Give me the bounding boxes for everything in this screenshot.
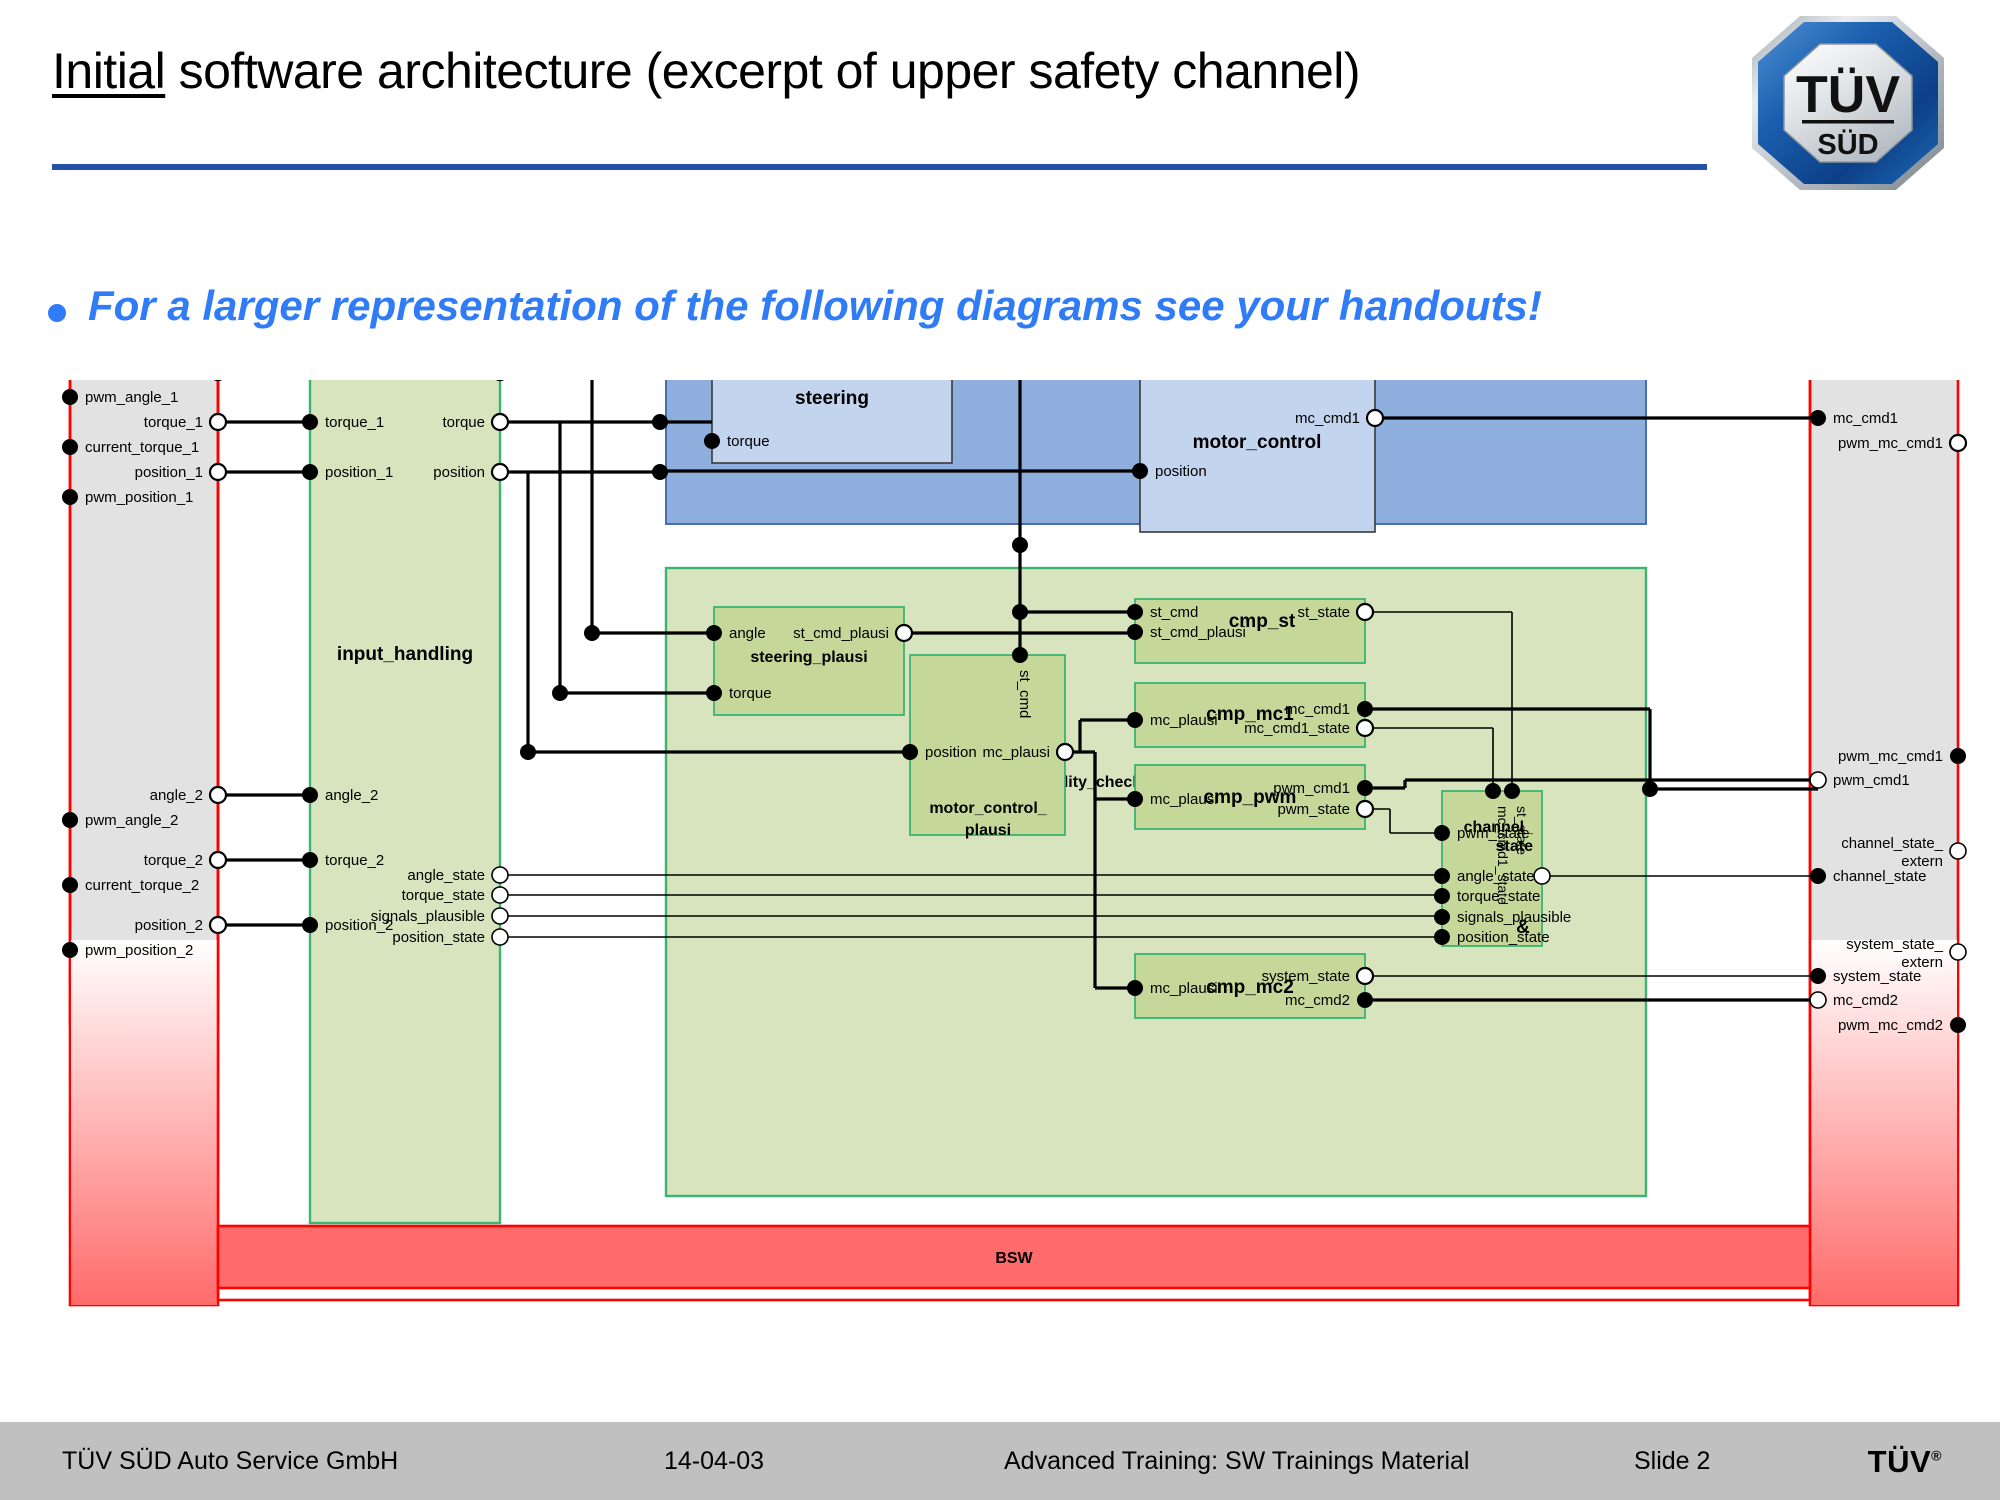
- port-right-systemstate-extern-out[interactable]: [1950, 944, 1966, 960]
- port-out-torque-1[interactable]: [210, 414, 226, 430]
- port-label-cmpmc1-mcplausi: mc_plausi: [1150, 712, 1218, 729]
- port-label-ih-angle-1: angle_1: [325, 380, 378, 381]
- block-mcp-label-line1: motor_control_: [929, 800, 1047, 817]
- port-ih-position-2-in[interactable]: [302, 917, 318, 933]
- port-label-ih-signalsplausible: signals_plausible: [371, 908, 485, 925]
- port-label-current-torque-2: current_torque_2: [85, 877, 199, 894]
- port-current-torque-1[interactable]: [62, 439, 78, 455]
- port-label-pwm-angle-2: pwm_angle_2: [85, 812, 178, 829]
- port-label-ih-positionstate: position_state: [392, 929, 485, 946]
- port-cmppwm-pwmstate-out[interactable]: [1357, 801, 1373, 817]
- port-label-steering-torque: torque: [727, 433, 770, 450]
- block-cmp-st[interactable]: cmp_st st_cmd st_cmd_plausi st_state: [1127, 599, 1373, 663]
- port-right-channelstate-extern-out[interactable]: [1950, 843, 1966, 859]
- logo-sud-text: SÜD: [1817, 128, 1878, 161]
- port-right-pwmcmd1-in[interactable]: [1810, 772, 1826, 788]
- port-mc-mccmd1-out[interactable]: [1367, 410, 1383, 426]
- port-cmpmc1-mccmd1-out[interactable]: [1357, 701, 1373, 717]
- block-motor-control[interactable]: motor_control st_cmd position mc_cmd1: [1132, 380, 1383, 532]
- port-out-position-2[interactable]: [210, 917, 226, 933]
- port-label-ih-angle: angle: [448, 380, 485, 381]
- block-cmp-mc2[interactable]: cmp_mc2 mc_plausi system_state mc_cmd2: [1127, 954, 1373, 1018]
- port-pwm-angle-2[interactable]: [62, 812, 78, 828]
- port-current-torque-2[interactable]: [62, 877, 78, 893]
- port-right-channelstate-in[interactable]: [1810, 868, 1826, 884]
- port-label-out-position-1: position_1: [135, 464, 203, 481]
- port-label-pwm-position-2: pwm_position_2: [85, 942, 193, 959]
- port-label-sp-stcmdplausi: st_cmd_plausi: [793, 625, 889, 642]
- port-label-mc-mccmd1: mc_cmd1: [1295, 410, 1360, 427]
- block-steering-plausi[interactable]: steering_plausi angle torque st_cmd_plau…: [706, 607, 912, 715]
- port-label-ih-angle-2: angle_2: [325, 787, 378, 804]
- block-motor-control-label: motor_control: [1193, 432, 1322, 453]
- port-cs-torquestate-in[interactable]: [1434, 888, 1450, 904]
- port-ih-position-1-in[interactable]: [302, 464, 318, 480]
- port-label-mcp-mcplausi: mc_plausi: [982, 744, 1050, 761]
- port-label-cs-signalsplausible: signals_plausible: [1457, 909, 1571, 926]
- port-ih-anglestate-out[interactable]: [492, 867, 508, 883]
- page-title: Initial software architecture (excerpt o…: [52, 42, 1360, 100]
- port-label-right-pwmmccmd1-upper: pwm_mc_cmd1: [1838, 435, 1943, 452]
- logo-tuv-text: TÜV: [1796, 66, 1900, 124]
- port-label-ih-torquestate: torque_state: [402, 887, 485, 904]
- port-cmpst-ststate-out[interactable]: [1357, 604, 1373, 620]
- port-label-sp-torque: torque: [729, 685, 772, 702]
- port-cmpmc2-systemstate-out[interactable]: [1357, 968, 1373, 984]
- port-right-pwmmccmd2-out[interactable]: [1950, 1017, 1966, 1033]
- port-label-mcp-stcmd: st_cmd: [1016, 670, 1033, 718]
- block-steering-plausi-label: steering_plausi: [750, 649, 867, 666]
- port-label-ih-anglestate: angle_state: [407, 867, 485, 884]
- port-label-ih-torque-2: torque_2: [325, 852, 384, 869]
- bsw-bar: BSW: [218, 1226, 1810, 1288]
- port-cmppwm-pwmcmd1-out[interactable]: [1357, 780, 1373, 796]
- port-label-cmpst-ststate: st_state: [1297, 604, 1350, 621]
- port-label-mcp-position: position: [925, 744, 977, 761]
- port-ih-torque-1-in[interactable]: [302, 414, 318, 430]
- port-label-cmpmc2-mcplausi: mc_plausi: [1150, 980, 1218, 997]
- port-label-out-torque-2: torque_2: [144, 852, 203, 869]
- port-label-cmpst-stcmd: st_cmd: [1150, 604, 1198, 621]
- port-cs-channelstate-out[interactable]: [1534, 868, 1550, 884]
- port-label-right-mccmd1: mc_cmd1: [1833, 410, 1898, 427]
- port-pwm-position-2[interactable]: [62, 942, 78, 958]
- handout-note-text: For a larger representation of the follo…: [88, 282, 1542, 330]
- bsw-label: BSW: [995, 1250, 1033, 1267]
- page-title-rest: software architecture (excerpt of upper …: [165, 43, 1360, 99]
- block-cmp-mc1[interactable]: cmp_mc1 mc_plausi mc_cmd1 mc_cmd1_state: [1127, 683, 1373, 747]
- port-label-right-channelstate-extern-1: channel_state_: [1841, 835, 1943, 852]
- port-pwm-angle-1[interactable]: [62, 389, 78, 405]
- block-cmp-pwm[interactable]: cmp_pwm mc_plausi pwm_cmd1 pwm_state: [1127, 765, 1373, 829]
- block-steering[interactable]: steering angle torque st_cmd: [704, 380, 960, 463]
- port-steering-torque-in[interactable]: [704, 433, 720, 449]
- port-label-cmpst-stcmdplausi: st_cmd_plausi: [1150, 624, 1246, 641]
- port-label-ih-torque: torque: [442, 414, 485, 431]
- port-cs-anglestate-in[interactable]: [1434, 868, 1450, 884]
- port-label-out-position-2: position_2: [135, 917, 203, 934]
- port-right-mccmd1-in[interactable]: [1810, 410, 1826, 426]
- port-label-pwm-position-1: pwm_position_1: [85, 489, 193, 506]
- port-label-right-channelstate: channel_state: [1833, 868, 1926, 885]
- port-label-sp-angle: angle: [729, 625, 766, 642]
- port-ih-torquestate-out[interactable]: [492, 887, 508, 903]
- architecture-diagram: .pl { font-family:"Liberation Sans",sans…: [0, 380, 2000, 1400]
- port-label-cs-pwmstate: pwm_state: [1457, 825, 1530, 842]
- footer-registered-icon: ®: [1931, 1448, 1942, 1464]
- block-mcp-label-line2: plausi: [965, 822, 1011, 839]
- bullet-dot-icon: [48, 304, 66, 322]
- port-label-right-mccmd2: mc_cmd2: [1833, 992, 1898, 1009]
- port-sp-stcmdplausi-out[interactable]: [896, 625, 912, 641]
- handout-note: For a larger representation of the follo…: [48, 282, 1542, 330]
- port-label-out-angle-1: angle_1: [150, 380, 203, 381]
- port-mcp-mcplausi-out[interactable]: [1057, 744, 1073, 760]
- port-label-current-torque-1: current_torque_1: [85, 439, 199, 456]
- footer-bar: TÜV SÜD Auto Service GmbH 14-04-03 Advan…: [0, 1422, 2000, 1500]
- port-ih-torque-2-in[interactable]: [302, 852, 318, 868]
- footer-course: Advanced Training: SW Trainings Material: [1004, 1447, 1470, 1476]
- port-label-ih-torque-1: torque_1: [325, 414, 384, 431]
- port-label-cmpmc1-mccmd1: mc_cmd1: [1285, 701, 1350, 718]
- page-title-underlined: Initial: [52, 43, 165, 99]
- port-right-pwmmccmd1-out-upper[interactable]: [1950, 435, 1966, 451]
- footer-company: TÜV SÜD Auto Service GmbH: [62, 1447, 398, 1476]
- port-out-torque-2[interactable]: [210, 852, 226, 868]
- port-cs-signalsplausible-in[interactable]: [1434, 909, 1450, 925]
- port-label-right-systemstate: system_state: [1833, 968, 1921, 985]
- tuv-sud-logo: TÜV SÜD: [1746, 8, 1978, 198]
- port-out-angle-2[interactable]: [210, 787, 226, 803]
- port-label-mc-position: position: [1155, 463, 1207, 480]
- port-right-systemstate-in[interactable]: [1810, 968, 1826, 984]
- port-pwm-position-1[interactable]: [62, 489, 78, 505]
- port-label-cmppwm-pwmcmd1: pwm_cmd1: [1273, 780, 1350, 797]
- port-label-cmppwm-mcplausi: mc_plausi: [1150, 791, 1218, 808]
- bsw-left-gradient: [71, 940, 217, 1305]
- port-label-cmpmc1-mccmd1state: mc_cmd1_state: [1244, 720, 1350, 737]
- port-label-out-angle-2: angle_2: [150, 787, 203, 804]
- port-label-cs-torquestate: torque_state: [1457, 888, 1540, 905]
- block-steering-label: steering: [795, 388, 869, 409]
- port-cmpmc1-mccmd1state-out[interactable]: [1357, 720, 1373, 736]
- footer-date: 14-04-03: [664, 1447, 764, 1476]
- port-label-cmpmc2-mccmd2: mc_cmd2: [1285, 992, 1350, 1009]
- port-ih-signalsplausible-out[interactable]: [492, 908, 508, 924]
- block-motor-control-plausi[interactable]: motor_control_ plausi position st_cmd mc…: [902, 647, 1073, 839]
- footer-tuv-text: TÜV: [1868, 1444, 1932, 1479]
- port-ih-positionstate-out[interactable]: [492, 929, 508, 945]
- port-label-ih-position: position: [433, 464, 485, 481]
- port-ih-position-out[interactable]: [492, 464, 508, 480]
- port-label-right-pwmmccmd1-lower: pwm_mc_cmd1: [1838, 748, 1943, 765]
- port-right-pwmmccmd1-lower[interactable]: [1950, 748, 1966, 764]
- port-cmpmc2-mccmd2-out[interactable]: [1357, 992, 1373, 1008]
- port-label-pwm-angle-1: pwm_angle_1: [85, 389, 178, 406]
- port-label-cmppwm-pwmstate: pwm_state: [1277, 801, 1350, 818]
- port-label-cs-positionstate: position_state: [1457, 929, 1550, 946]
- footer-slide-number: Slide 2: [1634, 1447, 1710, 1476]
- port-label-cmpmc2-systemstate: system_state: [1262, 968, 1350, 985]
- port-label-cs-anglestate: angle_state: [1457, 868, 1535, 885]
- port-out-position-1[interactable]: [210, 464, 226, 480]
- port-ih-angle-2-in[interactable]: [302, 787, 318, 803]
- port-label-right-pwmcmd1: pwm_cmd1: [1833, 772, 1910, 789]
- port-right-mccmd2-in[interactable]: [1810, 992, 1826, 1008]
- port-label-out-torque-1: torque_1: [144, 414, 203, 431]
- input-handling-label: input_handling: [337, 644, 473, 665]
- title-divider: [52, 164, 1707, 170]
- port-ih-torque-out[interactable]: [492, 414, 508, 430]
- port-label-right-pwmmccmd2: pwm_mc_cmd2: [1838, 1017, 1943, 1034]
- port-label-ih-position-1: position_1: [325, 464, 393, 481]
- port-label-right-systemstate-extern-1: system_state_: [1846, 936, 1943, 953]
- footer-tuv-logo: TÜV®: [1868, 1444, 1942, 1480]
